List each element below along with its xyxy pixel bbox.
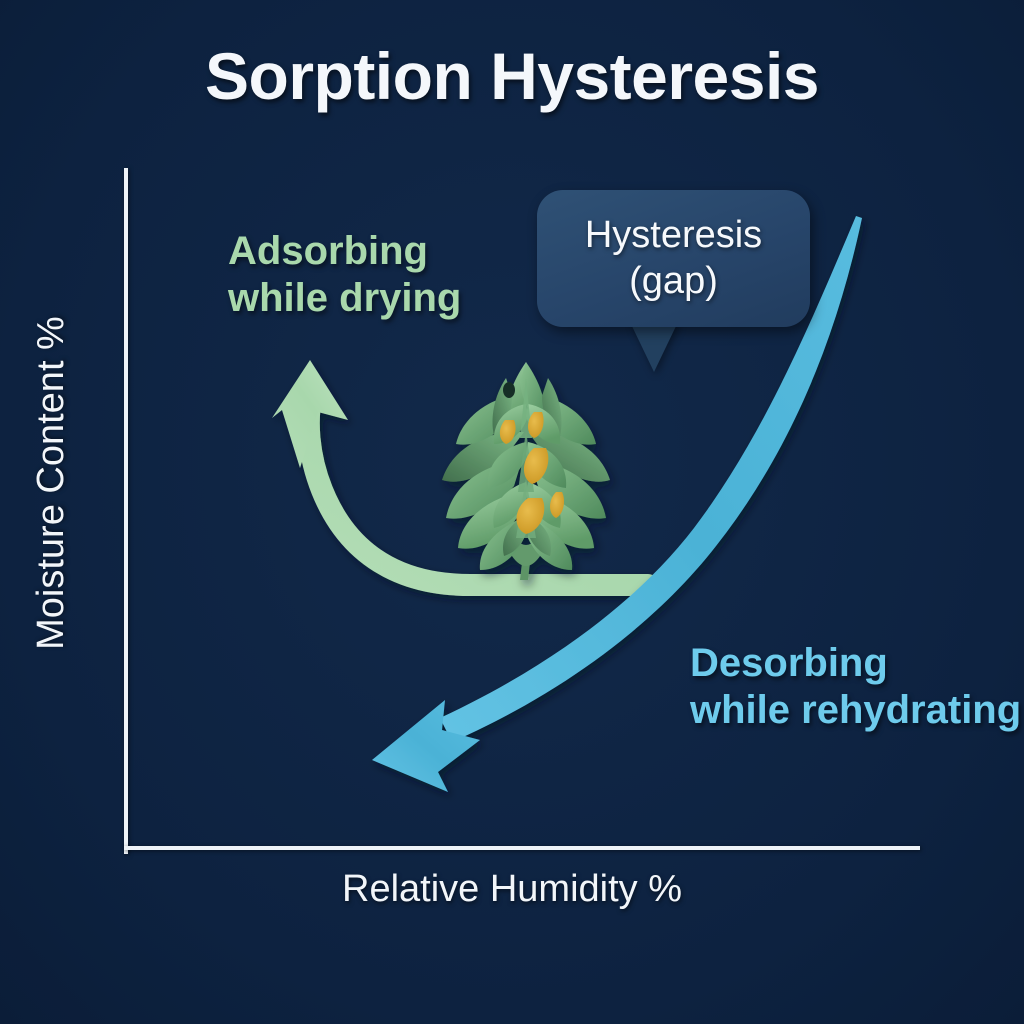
figure-canvas: Sorption Hysteresis <box>0 0 1024 1024</box>
y-axis-label-wrapper: Moisture Content % <box>30 183 90 783</box>
callout-tail-icon <box>630 322 678 372</box>
y-axis-label: Moisture Content % <box>30 183 73 783</box>
hysteresis-callout[interactable]: Hysteresis (gap) <box>537 190 810 327</box>
desorbing-label: Desorbing while rehydrating <box>690 640 1021 734</box>
adsorbing-label: Adsorbing while drying <box>228 228 461 322</box>
x-axis-label: Relative Humidity % <box>0 868 1024 911</box>
callout-label: Hysteresis (gap) <box>537 212 810 305</box>
